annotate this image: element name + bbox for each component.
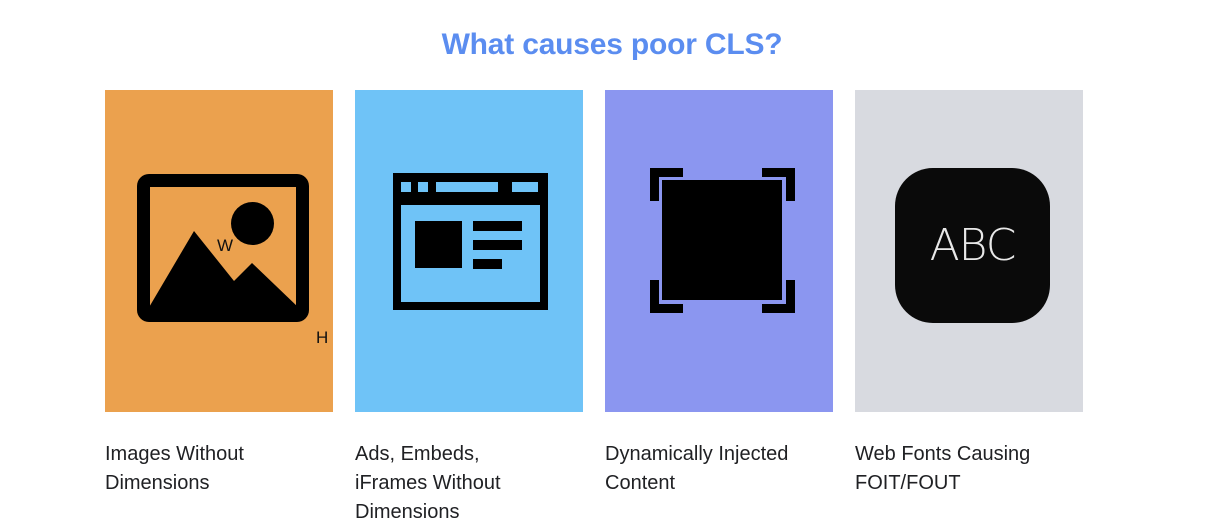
card-art-blue xyxy=(355,90,583,412)
browser-dot-icon xyxy=(401,182,411,192)
image-placeholder-icon xyxy=(137,174,309,322)
height-label: H xyxy=(316,328,328,348)
card-art-orange: W H xyxy=(105,90,333,412)
content-line xyxy=(473,240,522,250)
browser-tab xyxy=(512,182,538,192)
card-ads-embeds-iframes: Ads, Embeds, iFrames Without Dimensions xyxy=(355,90,583,527)
cards-grid: W H Images Without Dimensions xyxy=(105,90,1095,527)
font-sample-text: ABC xyxy=(930,220,1016,271)
card-art-purple xyxy=(605,90,833,412)
card-caption: Ads, Embeds, iFrames Without Dimensions xyxy=(355,440,583,527)
content-line xyxy=(473,221,522,231)
card-web-fonts-foit-fout: ABC Web Fonts Causing FOIT/FOUT xyxy=(855,90,1083,527)
browser-addressbar xyxy=(436,182,498,192)
content-line xyxy=(473,259,502,269)
font-tile-icon: ABC xyxy=(895,168,1050,323)
card-art-gray: ABC xyxy=(855,90,1083,412)
browser-window-icon xyxy=(393,173,548,310)
card-caption: Images Without Dimensions xyxy=(105,440,333,498)
injected-block xyxy=(662,180,782,300)
browser-titlebar xyxy=(393,173,548,199)
crop-marks-square-icon xyxy=(650,168,795,313)
content-block xyxy=(415,221,462,268)
page-title: What causes poor CLS? xyxy=(0,28,1224,62)
card-images-without-dimensions: W H Images Without Dimensions xyxy=(105,90,333,527)
browser-content xyxy=(401,205,540,302)
browser-dot-icon xyxy=(418,182,428,192)
card-dynamically-injected-content: Dynamically Injected Content xyxy=(605,90,833,527)
mountain-shape-icon xyxy=(148,223,300,309)
slide-root: What causes poor CLS? W H Images Without… xyxy=(0,0,1224,528)
card-caption: Dynamically Injected Content xyxy=(605,440,833,498)
card-caption: Web Fonts Causing FOIT/FOUT xyxy=(855,440,1083,498)
